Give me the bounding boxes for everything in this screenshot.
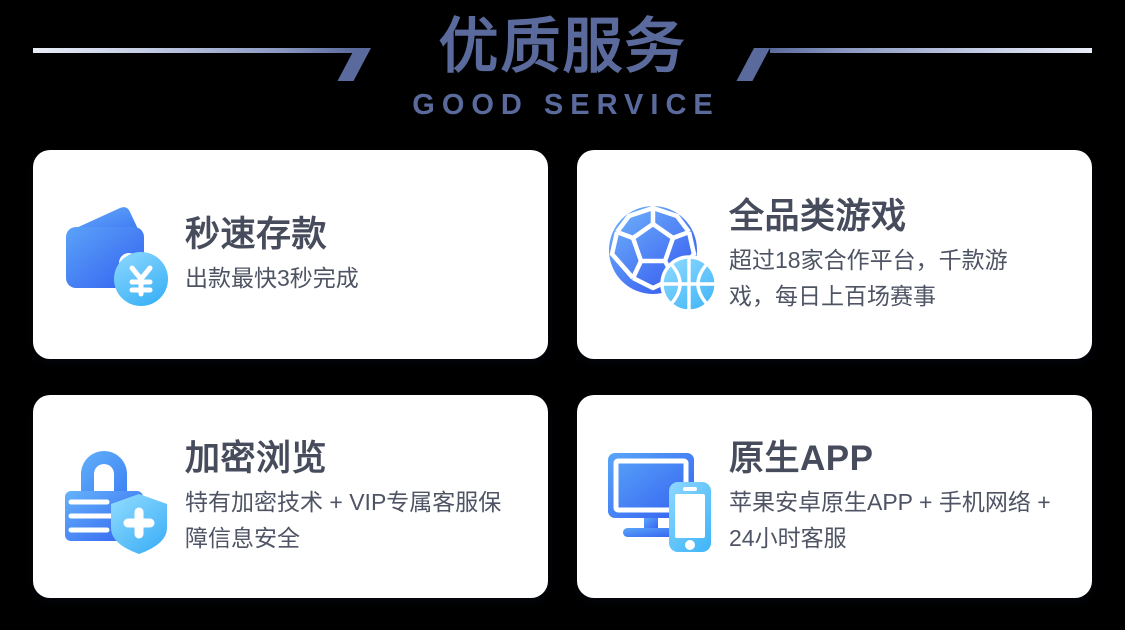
page-title: 优质服务 [0,8,1125,86]
service-card-encrypted-browsing[interactable]: 加密浏览 特有加密技术 + VIP专属客服保障信息安全 [33,395,548,598]
service-card-all-games[interactable]: 全品类游戏 超过18家合作平台，千款游戏，每日上百场赛事 [577,150,1092,359]
card-icon-slot [33,150,185,359]
card-description: 超过18家合作平台，千款游戏，每日上百场赛事 [729,242,1051,314]
card-icon-slot [577,395,729,598]
card-title: 加密浏览 [185,437,507,481]
card-description: 出款最快3秒完成 [185,260,359,296]
card-icon-slot [33,395,185,598]
soccer-basketball-icon [601,196,719,314]
page-subtitle: GOOD SERVICE [0,88,1125,122]
card-description: 特有加密技术 + VIP专属客服保障信息安全 [185,484,507,556]
monitor-phone-icon [601,438,719,556]
card-text-slot: 秒速存款 出款最快3秒完成 [185,213,371,296]
card-title: 全品类游戏 [729,195,1051,239]
card-description: 苹果安卓原生APP + 手机网络 + 24小时客服 [729,484,1051,556]
header-text-block: 优质服务 GOOD SERVICE [0,8,1125,122]
card-title: 原生APP [729,437,1051,481]
wallet-yen-icon [57,196,175,314]
service-card-instant-deposit[interactable]: 秒速存款 出款最快3秒完成 [33,150,548,359]
card-text-slot: 全品类游戏 超过18家合作平台，千款游戏，每日上百场赛事 [729,195,1063,314]
lock-shield-icon [57,438,175,556]
card-text-slot: 加密浏览 特有加密技术 + VIP专属客服保障信息安全 [185,437,519,556]
page-header: 优质服务 GOOD SERVICE [0,0,1125,150]
service-card-native-app[interactable]: 原生APP 苹果安卓原生APP + 手机网络 + 24小时客服 [577,395,1092,598]
card-text-slot: 原生APP 苹果安卓原生APP + 手机网络 + 24小时客服 [729,437,1063,556]
card-title: 秒速存款 [185,213,359,257]
card-icon-slot [577,150,729,359]
service-card-grid: 秒速存款 出款最快3秒完成 [33,150,1092,598]
